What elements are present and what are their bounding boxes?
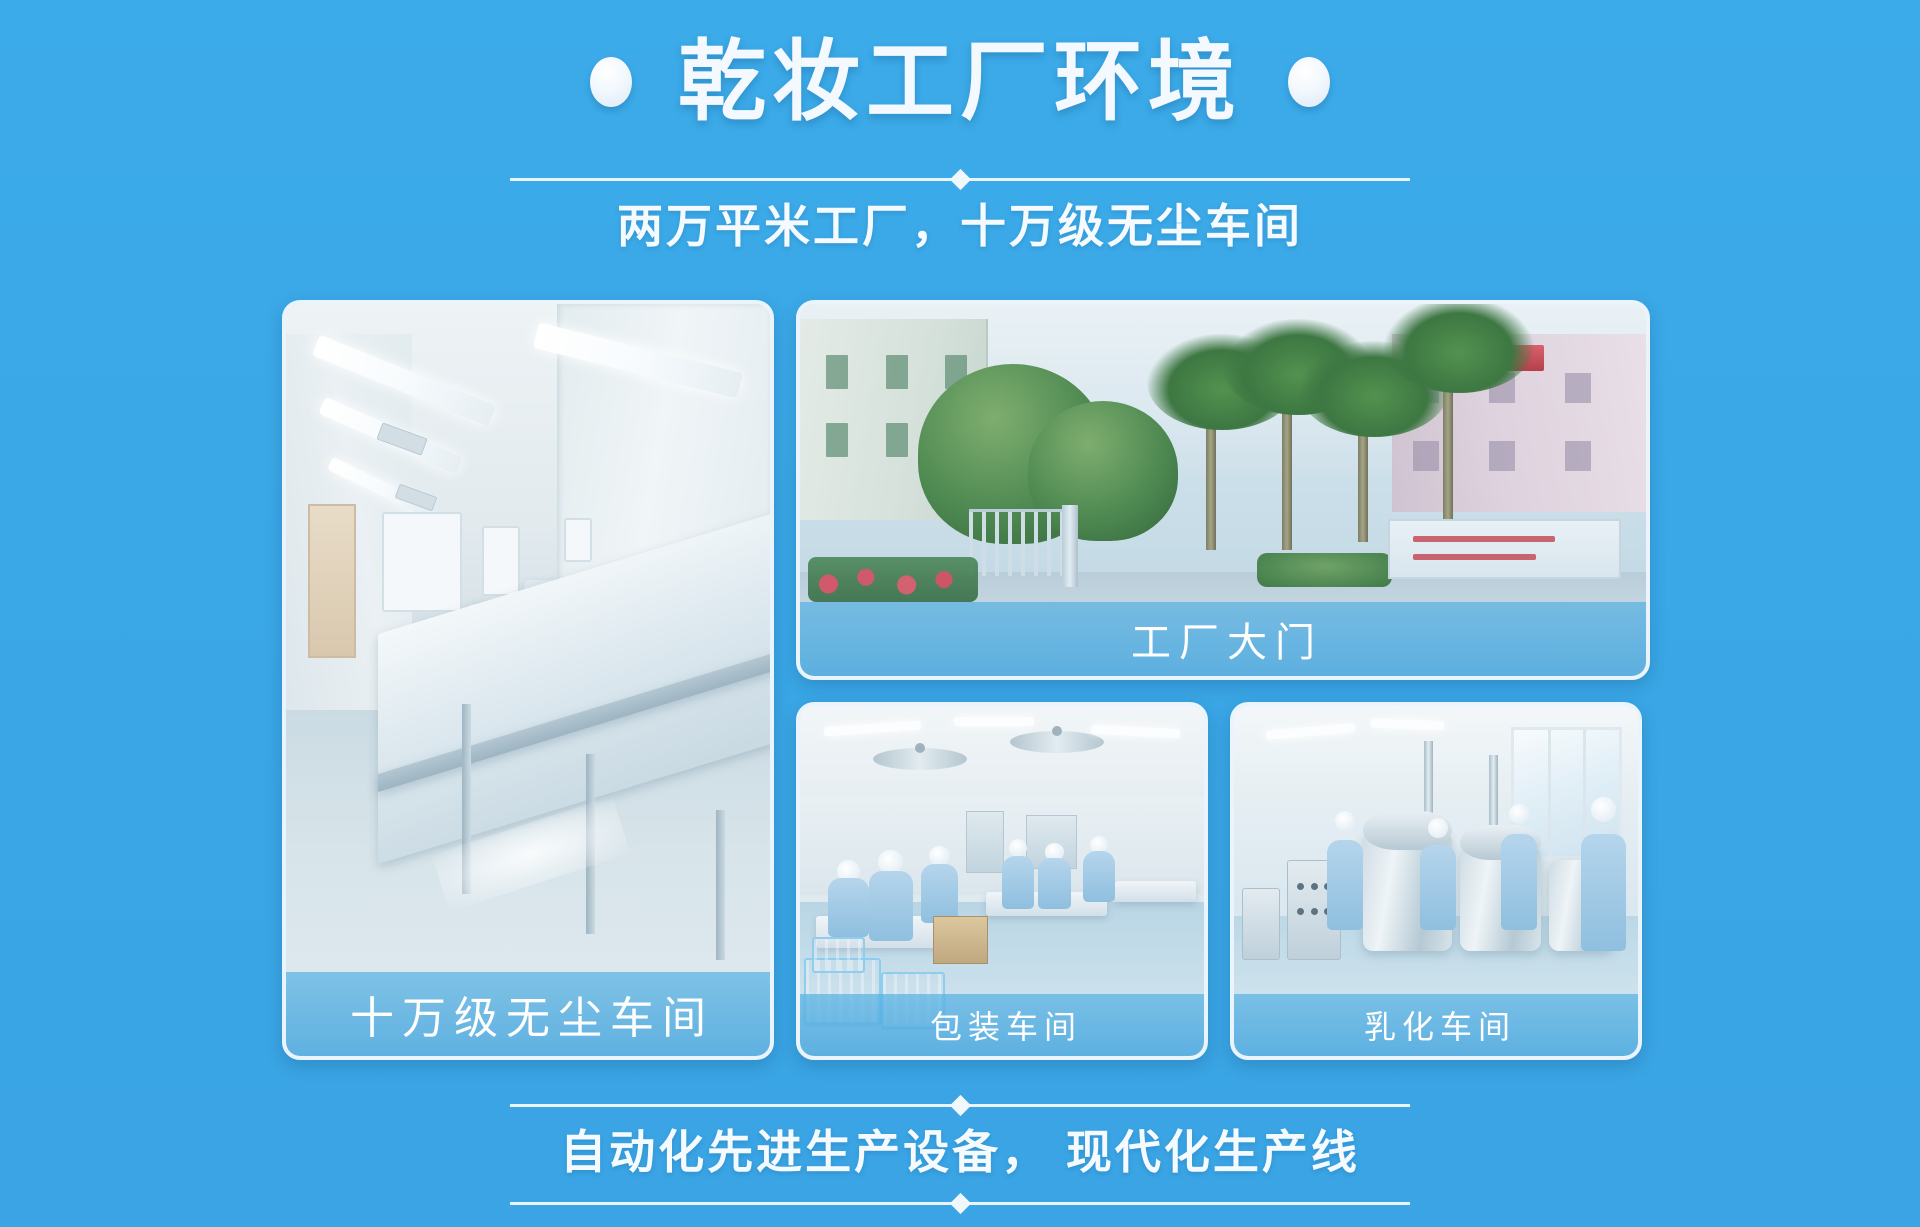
photo-card-packing[interactable]: 包装车间 bbox=[796, 702, 1208, 1060]
photo-card-cleanroom[interactable]: 十万级无尘车间 bbox=[282, 300, 774, 1060]
diamond-divider-icon-footer-top bbox=[510, 1096, 1410, 1114]
page-title: 乾妆工厂环境 bbox=[678, 38, 1242, 126]
subtitle-text: 两万平米工厂，十万级无尘车间 bbox=[617, 188, 1303, 268]
diamond-divider-icon-top bbox=[510, 170, 1410, 188]
subtitle-banner: 两万平米工厂，十万级无尘车间 bbox=[0, 170, 1920, 268]
footer-text: 自动化先进生产设备， 现代化生产线 bbox=[560, 1114, 1360, 1194]
photo-caption-emulsifying: 乳化车间 bbox=[1234, 994, 1638, 1056]
photo-card-factory-gate[interactable]: 工厂大门 bbox=[796, 300, 1650, 680]
gallery-bottom-row: 包装车间 bbox=[796, 702, 1642, 1060]
photo-caption-packing: 包装车间 bbox=[800, 994, 1204, 1056]
photo-caption-cleanroom: 十万级无尘车间 bbox=[286, 972, 770, 1056]
photo-image-cleanroom bbox=[286, 304, 770, 1056]
photo-caption-factory-gate: 工厂大门 bbox=[800, 602, 1646, 676]
gallery-left-column: 十万级无尘车间 bbox=[282, 300, 774, 1060]
photo-card-emulsifying[interactable]: 乳化车间 bbox=[1230, 702, 1642, 1060]
circle-dot-icon-left bbox=[590, 57, 632, 107]
footer-banner: 自动化先进生产设备， 现代化生产线 bbox=[0, 1096, 1920, 1212]
diamond-divider-icon-footer-bottom bbox=[510, 1194, 1410, 1212]
photo-gallery: 十万级无尘车间 bbox=[282, 300, 1642, 1060]
poster-root: 乾妆工厂环境 两万平米工厂，十万级无尘车间 bbox=[0, 0, 1920, 1227]
circle-dot-icon-right bbox=[1288, 57, 1330, 107]
page-header: 乾妆工厂环境 bbox=[0, 22, 1920, 142]
gallery-right-column: 工厂大门 bbox=[796, 300, 1642, 1060]
